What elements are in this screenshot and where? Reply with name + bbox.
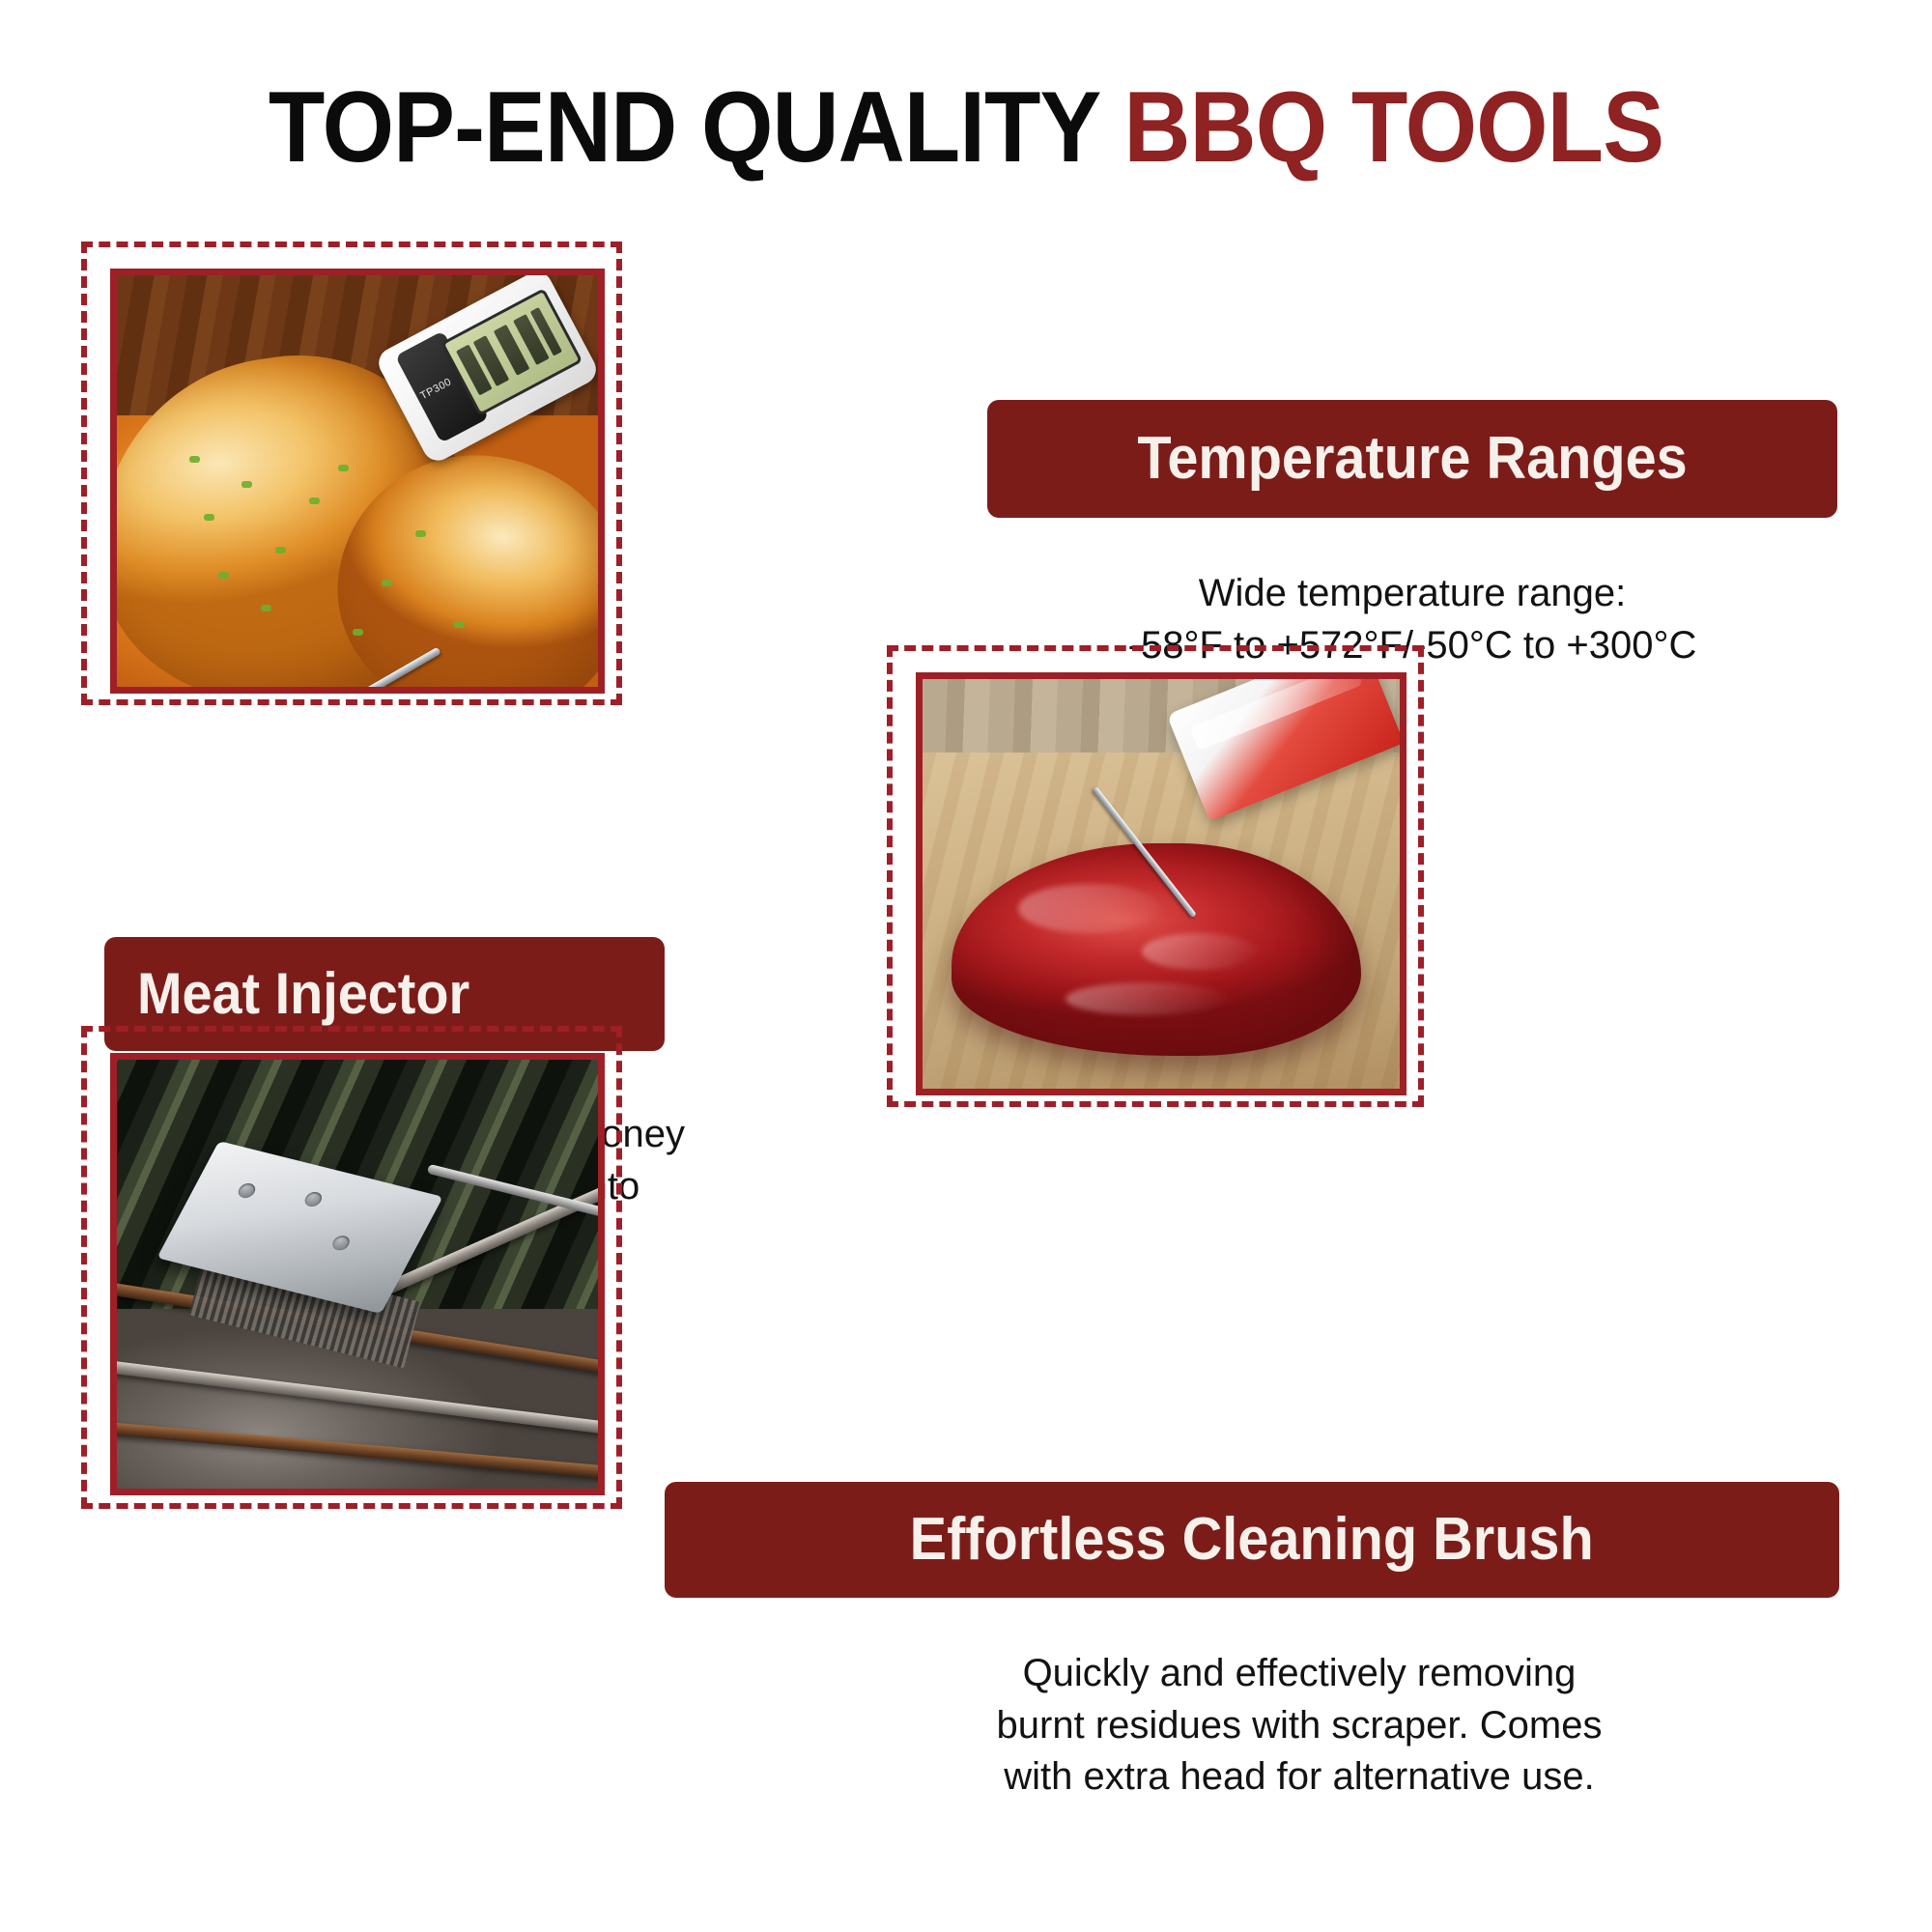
page-title-accent: BBQ TOOLS [1123,71,1663,184]
page-title-primary: TOP-END QUALITY [269,71,1099,184]
photo-frame-chicken: TP300 [81,241,622,705]
chicken-photo-art: TP300 [117,275,598,687]
page-title: TOP-END QUALITY BBQ TOOLS [77,75,1855,181]
photo-grill-brush [110,1053,605,1495]
photo-steak-injector [916,672,1406,1095]
photo-chicken-thermometer: TP300 [110,269,605,694]
photo-frame-steak [887,645,1424,1107]
steak-photo-art [923,679,1400,1089]
banner-temperature-ranges-label: Temperature Ranges [1137,429,1687,489]
photo-frame-grill-brush [81,1026,622,1509]
infographic-canvas: TOP-END QUALITY BBQ TOOLS [0,0,1932,1932]
banner-cleaning-brush-label: Effortless Cleaning Brush [910,1510,1594,1570]
banner-meat-injector-label: Meat Injector [137,965,469,1023]
grill-brush-photo-art [117,1060,598,1489]
cleaning-brush-description: Quickly and effectively removing burnt r… [753,1648,1845,1804]
banner-cleaning-brush: Effortless Cleaning Brush [665,1482,1839,1598]
banner-temperature-ranges: Temperature Ranges [987,400,1837,518]
